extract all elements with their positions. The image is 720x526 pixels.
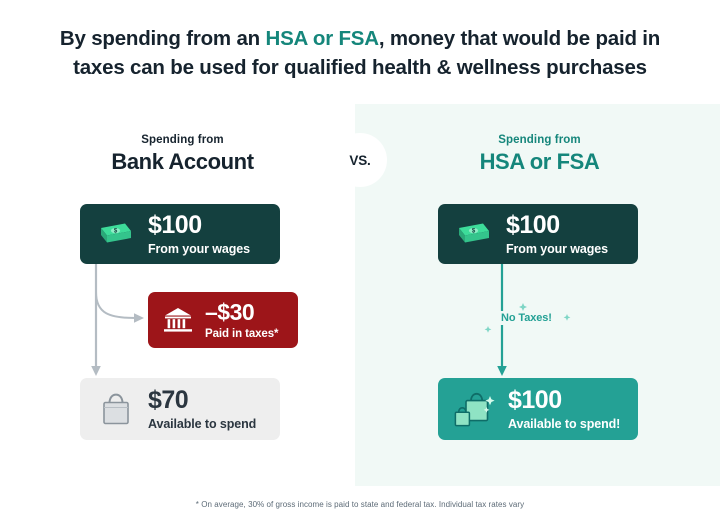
- bank-available-amount: $70: [148, 387, 256, 413]
- hsa-available-card: $100 Available to spend!: [438, 378, 638, 440]
- footnote: * On average, 30% of gross income is pai…: [60, 500, 660, 509]
- hsa-wages-card: $ $100 From your wages: [438, 204, 638, 264]
- paid-in-taxes-card: –$30 Paid in taxes*: [148, 292, 298, 348]
- headline-accent-hsa-fsa: HSA or FSA: [265, 27, 378, 50]
- hsa-fsa-title: HSA or FSA: [412, 149, 667, 175]
- bank-building-icon: [160, 302, 196, 338]
- versus-badge: VS.: [333, 133, 387, 187]
- versus-badge-label: VS.: [349, 153, 370, 168]
- hsa-available-amount: $100: [508, 387, 620, 413]
- page-title: By spending from an HSA or FSA, money th…: [50, 24, 670, 82]
- shopping-bag-icon: [94, 387, 138, 431]
- bank-wages-amount: $100: [148, 212, 250, 238]
- headline-part-1: By spending from an: [60, 27, 266, 50]
- bank-account-eyebrow: Spending from: [55, 134, 310, 146]
- paid-in-taxes-amount: –$30: [205, 300, 278, 324]
- hsa-wages-amount: $100: [506, 212, 608, 238]
- bank-available-sublabel: Available to spend: [148, 417, 256, 431]
- banknote-icon: $: [452, 212, 496, 256]
- paid-in-taxes-sublabel: Paid in taxes*: [205, 328, 278, 340]
- hsa-fsa-column-header: Spending from HSA or FSA: [412, 134, 667, 175]
- bank-available-card: $70 Available to spend: [80, 378, 280, 440]
- hsa-fsa-eyebrow: Spending from: [412, 134, 667, 146]
- no-taxes-label: No Taxes!: [497, 311, 556, 325]
- shopping-bags-sparkle-icon: [452, 386, 500, 432]
- bank-wages-card: $ $100 From your wages: [80, 204, 280, 264]
- hsa-wages-sublabel: From your wages: [506, 242, 608, 256]
- bank-account-column-header: Spending from Bank Account: [55, 134, 310, 175]
- hsa-available-sublabel: Available to spend!: [508, 417, 620, 431]
- banknote-icon: $: [94, 212, 138, 256]
- bank-wages-sublabel: From your wages: [148, 242, 250, 256]
- bank-account-title: Bank Account: [55, 149, 310, 175]
